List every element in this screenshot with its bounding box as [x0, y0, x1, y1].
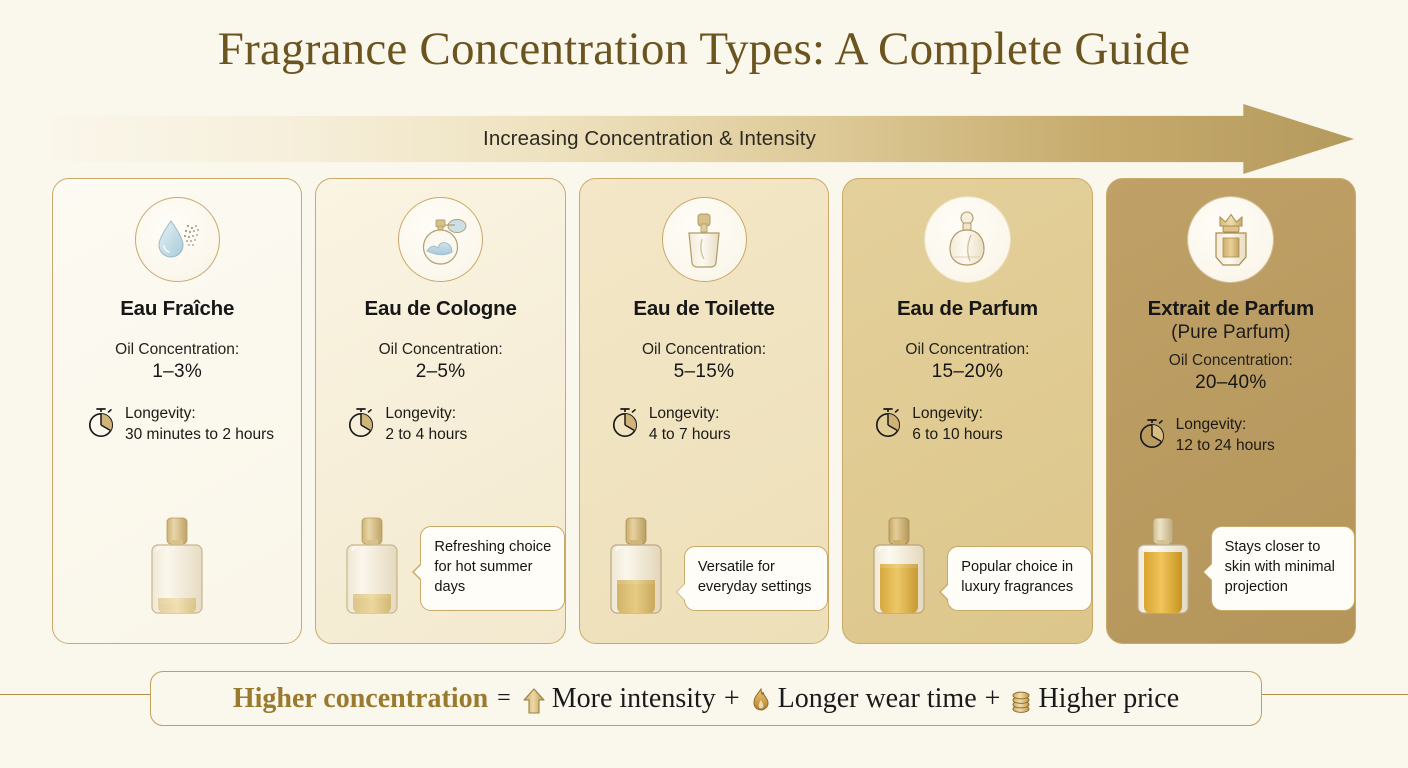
concentration-label: Oil Concentration: — [316, 341, 564, 359]
perfume-bottle-icon — [863, 510, 935, 622]
longevity-value: 30 minutes to 2 hours — [125, 426, 274, 443]
perfume-bottle-icon — [336, 510, 408, 622]
perfume-bottle-icon — [141, 510, 213, 622]
stopwatch-icon — [346, 407, 376, 438]
up-arrow-icon — [522, 687, 546, 715]
longevity-row: Longevity: 4 to 7 hours — [580, 404, 828, 445]
longevity-text: Longevity: 2 to 4 hours — [385, 404, 467, 445]
card-eau-fraiche[interactable]: Eau Fraîche Oil Concentration: 1–3% Long… — [52, 178, 302, 644]
coins-icon — [1010, 687, 1032, 715]
longevity-text: Longevity: 30 minutes to 2 hours — [125, 404, 274, 445]
bottle-illustration — [1127, 510, 1199, 627]
arrow-label: Increasing Concentration & Intensity — [52, 104, 1247, 174]
card-icon-medallion — [398, 197, 483, 282]
longevity-row: Longevity: 12 to 24 hours — [1107, 415, 1355, 456]
bottle-illustration — [336, 510, 408, 627]
callout-bubble: Refreshing choice for hot summer days — [420, 526, 564, 611]
stopwatch-icon — [1137, 418, 1167, 449]
longevity-text: Longevity: 12 to 24 hours — [1176, 415, 1275, 456]
card-icon-medallion — [662, 197, 747, 282]
concentration-label: Oil Concentration: — [53, 341, 301, 359]
card-title: Eau de Cologne — [316, 297, 564, 321]
water-droplet-spray-icon — [147, 210, 207, 270]
concentration-value: 20–40% — [1107, 372, 1355, 394]
bottle-row: Stays closer to skin with minimal projec… — [1107, 510, 1355, 627]
card-eau-de-toilette[interactable]: Eau de Toilette Oil Concentration: 5–15%… — [579, 178, 829, 644]
card-icon-medallion — [1188, 197, 1273, 282]
card-title: Eau Fraîche — [53, 297, 301, 321]
perfume-bottle-icon — [600, 510, 672, 622]
concentration-value: 15–20% — [843, 361, 1091, 383]
concentration-value: 2–5% — [316, 361, 564, 383]
longevity-label: Longevity: — [125, 405, 196, 422]
longevity-label: Longevity: — [649, 405, 720, 422]
footer-plus1: + — [724, 683, 740, 715]
longevity-row: Longevity: 30 minutes to 2 hours — [53, 404, 301, 445]
card-eau-de-parfum[interactable]: Eau de Parfum Oil Concentration: 15–20% … — [842, 178, 1092, 644]
footer-part2: Longer wear time — [778, 683, 977, 715]
longevity-label: Longevity: — [912, 405, 983, 422]
longevity-label: Longevity: — [385, 405, 456, 422]
card-title: Eau de Parfum — [843, 297, 1091, 321]
longevity-value: 6 to 10 hours — [912, 426, 1002, 443]
bottle-illustration — [600, 510, 672, 627]
longevity-value: 4 to 7 hours — [649, 426, 731, 443]
card-extrait-de-parfum[interactable]: Extrait de Parfum (Pure Parfum) Oil Conc… — [1106, 178, 1356, 644]
longevity-text: Longevity: 4 to 7 hours — [649, 404, 731, 445]
perfume-bottle-icon — [1127, 510, 1199, 622]
atomizer-bottle-icon — [410, 211, 472, 269]
callout-bubble: Stays closer to skin with minimal projec… — [1211, 526, 1355, 611]
card-subtitle: (Pure Parfum) — [1107, 322, 1355, 344]
bottle-row: Refreshing choice for hot summer days — [316, 510, 564, 627]
concentration-value: 5–15% — [580, 361, 828, 383]
card-title: Extrait de Parfum — [1107, 297, 1355, 321]
stopwatch-icon — [873, 407, 903, 438]
flame-icon — [750, 687, 772, 715]
summary-footer: Higher concentration = More intensity + … — [150, 671, 1262, 726]
page-title: Fragrance Concentration Types: A Complet… — [0, 22, 1408, 76]
footer-equals: = — [497, 685, 511, 712]
bottle-row — [53, 510, 301, 627]
round-flask-bottle-icon — [939, 209, 995, 271]
concentration-label: Oil Concentration: — [843, 341, 1091, 359]
card-icon-medallion — [925, 197, 1010, 282]
longevity-label: Longevity: — [1176, 416, 1247, 433]
crowned-bottle-icon — [1202, 209, 1260, 271]
card-eau-de-cologne[interactable]: Eau de Cologne Oil Concentration: 2–5% L… — [315, 178, 565, 644]
bottle-illustration — [863, 510, 935, 627]
footer-highlight: Higher concentration — [233, 683, 488, 715]
concentration-label: Oil Concentration: — [1107, 352, 1355, 370]
concentration-cards-row: Eau Fraîche Oil Concentration: 1–3% Long… — [52, 178, 1356, 644]
callout-bubble: Versatile for everyday settings — [684, 546, 828, 611]
longevity-row: Longevity: 6 to 10 hours — [843, 404, 1091, 445]
longevity-value: 2 to 4 hours — [385, 426, 467, 443]
stopwatch-icon — [610, 407, 640, 438]
concentration-label: Oil Concentration: — [580, 341, 828, 359]
bottle-row: Popular choice in luxury fragrances — [843, 510, 1091, 627]
footer-part1: More intensity — [552, 683, 716, 715]
card-icon-medallion — [135, 197, 220, 282]
callout-bubble: Popular choice in luxury fragrances — [947, 546, 1091, 611]
intensity-arrow-banner: Increasing Concentration & Intensity — [52, 104, 1354, 174]
tall-perfume-bottle-icon — [676, 209, 732, 271]
footer-plus2: + — [985, 683, 1001, 715]
longevity-value: 12 to 24 hours — [1176, 437, 1275, 454]
concentration-value: 1–3% — [53, 361, 301, 383]
bottle-illustration — [141, 510, 213, 627]
card-title: Eau de Toilette — [580, 297, 828, 321]
longevity-row: Longevity: 2 to 4 hours — [316, 404, 564, 445]
longevity-text: Longevity: 6 to 10 hours — [912, 404, 1002, 445]
bottle-row: Versatile for everyday settings — [580, 510, 828, 627]
footer-part3: Higher price — [1038, 683, 1179, 715]
stopwatch-icon — [86, 407, 116, 438]
